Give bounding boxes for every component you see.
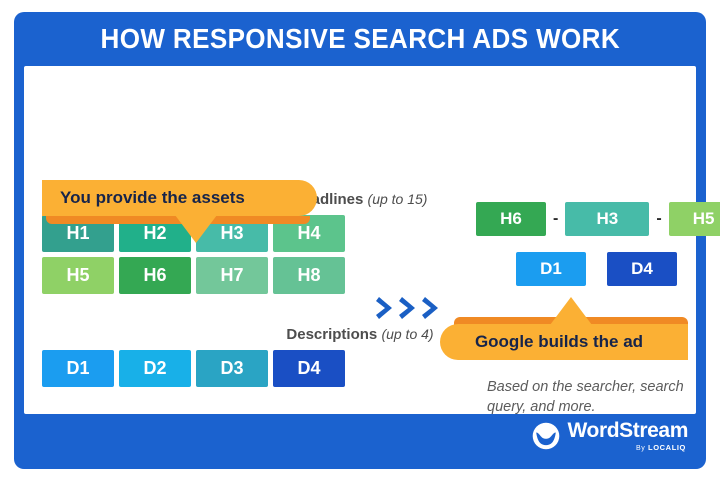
infographic-root: HOW RESPONSIVE SEARCH ADS WORK You provi… [0, 0, 720, 481]
logo-name: WordStream [568, 420, 688, 441]
descriptions-label-text: Descriptions [286, 326, 377, 343]
ad-headline-chip-h6: H6 [476, 202, 546, 236]
ad-description-chip-d4: D4 [607, 252, 677, 286]
content-canvas: You provide the assets Headlines (up to … [24, 66, 696, 414]
assembled-ad-description-row: D1D4 [516, 252, 677, 286]
banner-pointer-up-icon [550, 297, 592, 325]
description-chip-d3: D3 [196, 350, 268, 387]
logo-parent-text: LOCALIQ [648, 443, 686, 452]
ad-description-chip-d1: D1 [516, 252, 586, 286]
descriptions-note-text: (up to 4) [381, 326, 433, 342]
headlines-note-text: (up to 15) [368, 191, 428, 207]
flow-arrow-triple-chevron-right-icon [376, 294, 444, 322]
description-chip-row: D1D2D3D4 [42, 350, 345, 387]
logo-wordmark: WordStream By LOCALIQ [568, 420, 688, 452]
blue-frame: HOW RESPONSIVE SEARCH ADS WORK You provi… [14, 12, 706, 469]
ad-caption: Based on the searcher, search query, and… [487, 378, 717, 417]
banner-body: You provide the assets [42, 180, 317, 216]
headline-chip-h6: H6 [119, 257, 191, 294]
logo-subtitle: By LOCALIQ [636, 444, 686, 452]
ad-headline-chip-h5: H5 [669, 202, 720, 236]
banner-body: Google builds the ad [440, 324, 688, 360]
footer: WordStream By LOCALIQ [14, 414, 706, 469]
page-title: HOW RESPONSIVE SEARCH ADS WORK [100, 23, 619, 55]
banner-google-builds-the-ad: Google builds the ad [440, 324, 688, 360]
description-chip-d2: D2 [119, 350, 191, 387]
logo-by-text: By [636, 445, 645, 452]
ad-separator: - [553, 211, 558, 227]
assembled-ad-headline-row: H6-H3-H5 [476, 202, 720, 236]
banner-you-provide-the-assets: You provide the assets [42, 180, 317, 216]
description-chip-d1: D1 [42, 350, 114, 387]
banner-label: You provide the assets [60, 188, 245, 208]
description-chip-d4: D4 [273, 350, 345, 387]
headline-chip-h5: H5 [42, 257, 114, 294]
headline-chip-h7: H7 [196, 257, 268, 294]
wordstream-wave-logo-icon [532, 422, 560, 450]
banner-pointer-down-icon [175, 215, 217, 243]
ad-separator: - [656, 211, 661, 227]
ad-headline-chip-h3: H3 [565, 202, 649, 236]
title-bar: HOW RESPONSIVE SEARCH ADS WORK [14, 12, 706, 66]
headline-chip-h8: H8 [273, 257, 345, 294]
headline-chip-row-2: H5H6H7H8 [42, 257, 345, 294]
wordstream-logo: WordStream By LOCALIQ [532, 420, 688, 452]
banner-label: Google builds the ad [475, 332, 643, 352]
